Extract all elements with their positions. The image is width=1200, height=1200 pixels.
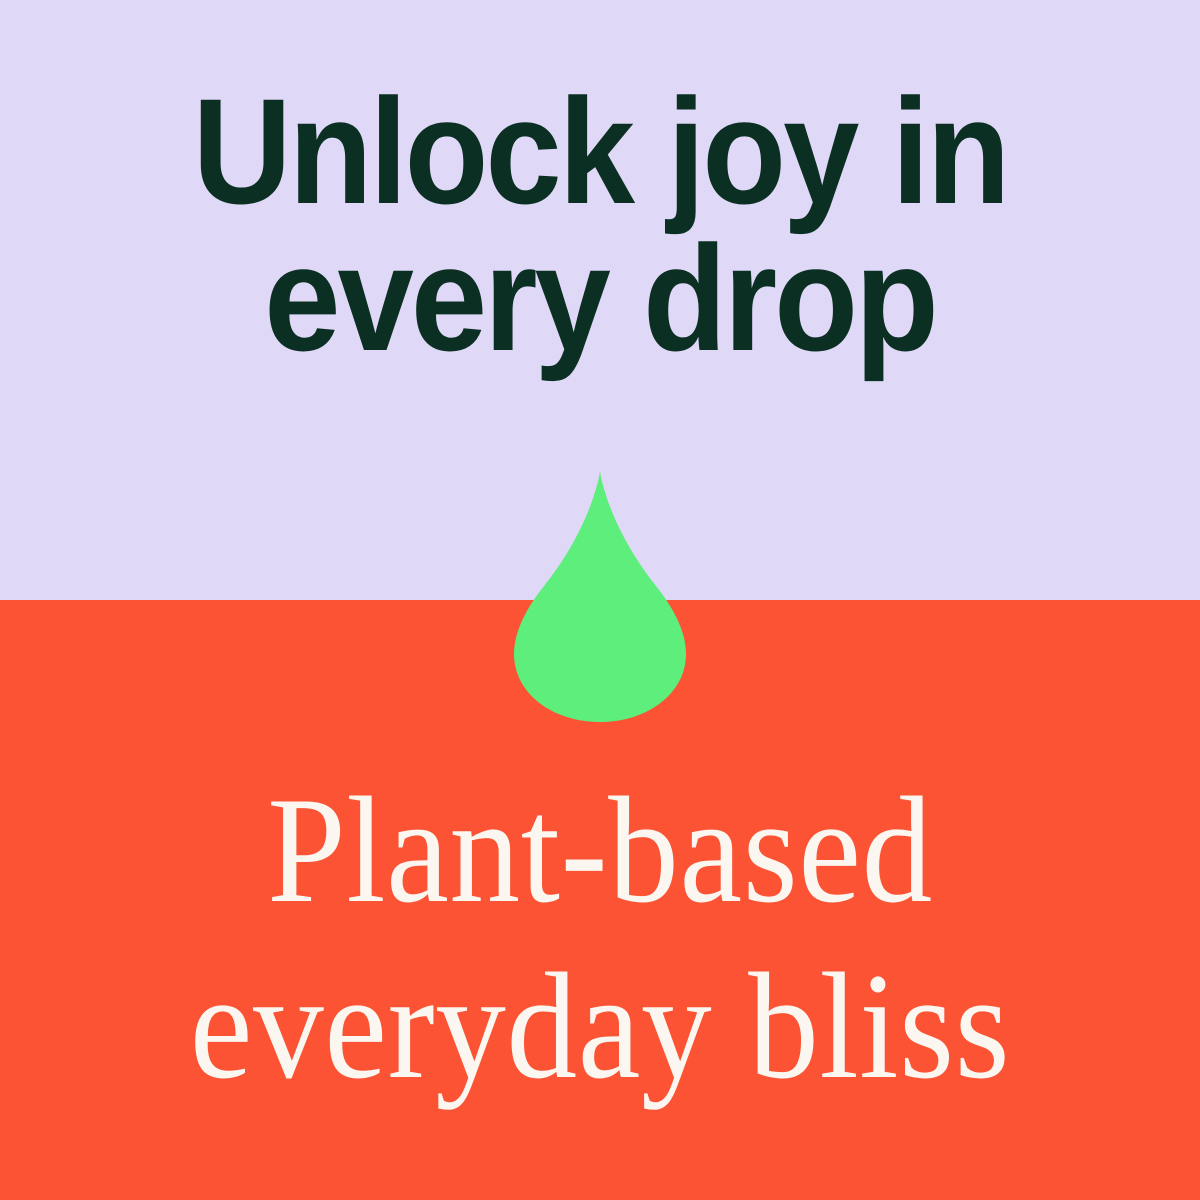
headline-line-2: every drop [51,225,1149,372]
headline-line-1: Unlock joy in [51,78,1149,225]
subheadline-line-2: everyday bliss [42,938,1158,1114]
headline: Unlock joy in every drop [51,78,1149,372]
subheadline-line-1: Plant-based [42,762,1158,938]
subheadline: Plant-based everyday bliss [42,762,1158,1115]
water-drop-icon [512,470,688,724]
poster-canvas: Unlock joy in every drop Plant-based eve… [0,0,1200,1200]
